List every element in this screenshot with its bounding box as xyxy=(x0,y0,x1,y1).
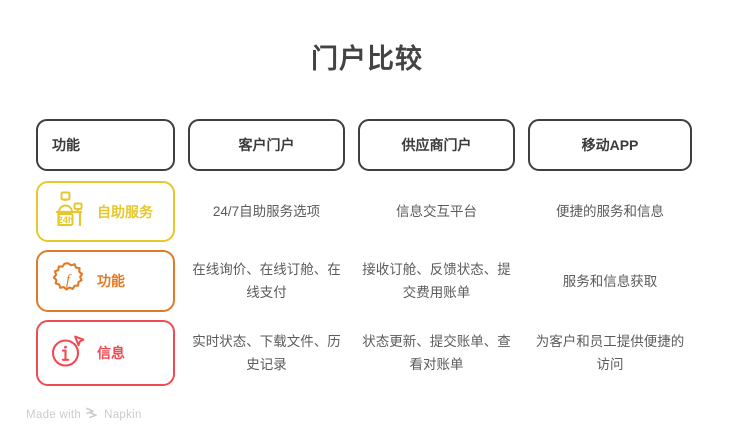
column-gap xyxy=(515,250,528,312)
cell-supplier-portal: 状态更新、提交账单、查看对账单 xyxy=(358,320,515,386)
row-badge-label: 功能 xyxy=(97,272,125,290)
cell-supplier-portal: 接收订舱、反馈状态、提交费用账单 xyxy=(358,250,515,312)
column-gap xyxy=(175,250,188,312)
row-badge-information[interactable]: 信息 xyxy=(36,320,175,386)
header-cell-mobile-app[interactable]: 移动APP xyxy=(528,119,692,171)
row-badge-label: 信息 xyxy=(97,344,125,362)
column-gap xyxy=(345,119,358,171)
header-cell-supplier-portal[interactable]: 供应商门户 xyxy=(358,119,515,171)
cell-customer-portal: 在线询价、在线订舱、在线支付 xyxy=(188,250,345,312)
napkin-watermark: Made with Napkin xyxy=(26,407,142,422)
cell-customer-portal: 实时状态、下载文件、历史记录 xyxy=(188,320,345,386)
watermark-brand: Napkin xyxy=(104,409,142,421)
gear-f-icon: f xyxy=(48,259,88,304)
comparison-table: 功能 客户门户 供应商门户 移动APP xyxy=(36,119,692,394)
table-row: 信息 实时状态、下载文件、历史记录 状态更新、提交账单、查看对账单 为客户和员工… xyxy=(36,320,692,386)
column-gap xyxy=(345,320,358,386)
column-gap xyxy=(515,119,528,171)
column-gap xyxy=(175,320,188,386)
napkin-chevrons-logo xyxy=(86,407,99,422)
cell-supplier-portal: 信息交互平台 xyxy=(358,181,515,242)
column-gap xyxy=(345,181,358,242)
table-row: f 功能 在线询价、在线订舱、在线支付 接收订舱、反馈状态、提交费用账单 服务和… xyxy=(36,250,692,312)
header-cell-customer-portal[interactable]: 客户门户 xyxy=(188,119,345,171)
table-header-row: 功能 客户门户 供应商门户 移动APP xyxy=(36,119,692,171)
column-gap xyxy=(175,181,188,242)
header-cell-feature[interactable]: 功能 xyxy=(36,119,175,171)
row-badge-label: 自助服务 xyxy=(97,203,153,221)
svg-text:24h: 24h xyxy=(57,215,74,226)
svg-text:f: f xyxy=(66,272,72,288)
cell-mobile-app: 便捷的服务和信息 xyxy=(528,181,692,242)
column-gap xyxy=(345,250,358,312)
page-title: 门户比较 xyxy=(0,42,734,76)
row-badge-self-service[interactable]: 24h 自助服务 xyxy=(36,181,175,242)
column-gap xyxy=(515,181,528,242)
column-gap xyxy=(175,119,188,171)
cell-mobile-app: 为客户和员工提供便捷的访问 xyxy=(528,320,692,386)
column-gap xyxy=(515,320,528,386)
watermark-prefix: Made with xyxy=(26,409,81,421)
info-cursor-icon xyxy=(48,331,88,376)
help-desk-24h-icon: 24h xyxy=(48,189,88,234)
cell-mobile-app: 服务和信息获取 xyxy=(528,250,692,312)
table-row: 24h 自助服务 24/7自助服务选项 信息交互平台 便捷的服务和信息 xyxy=(36,181,692,242)
row-badge-functions[interactable]: f 功能 xyxy=(36,250,175,312)
cell-customer-portal: 24/7自助服务选项 xyxy=(188,181,345,242)
